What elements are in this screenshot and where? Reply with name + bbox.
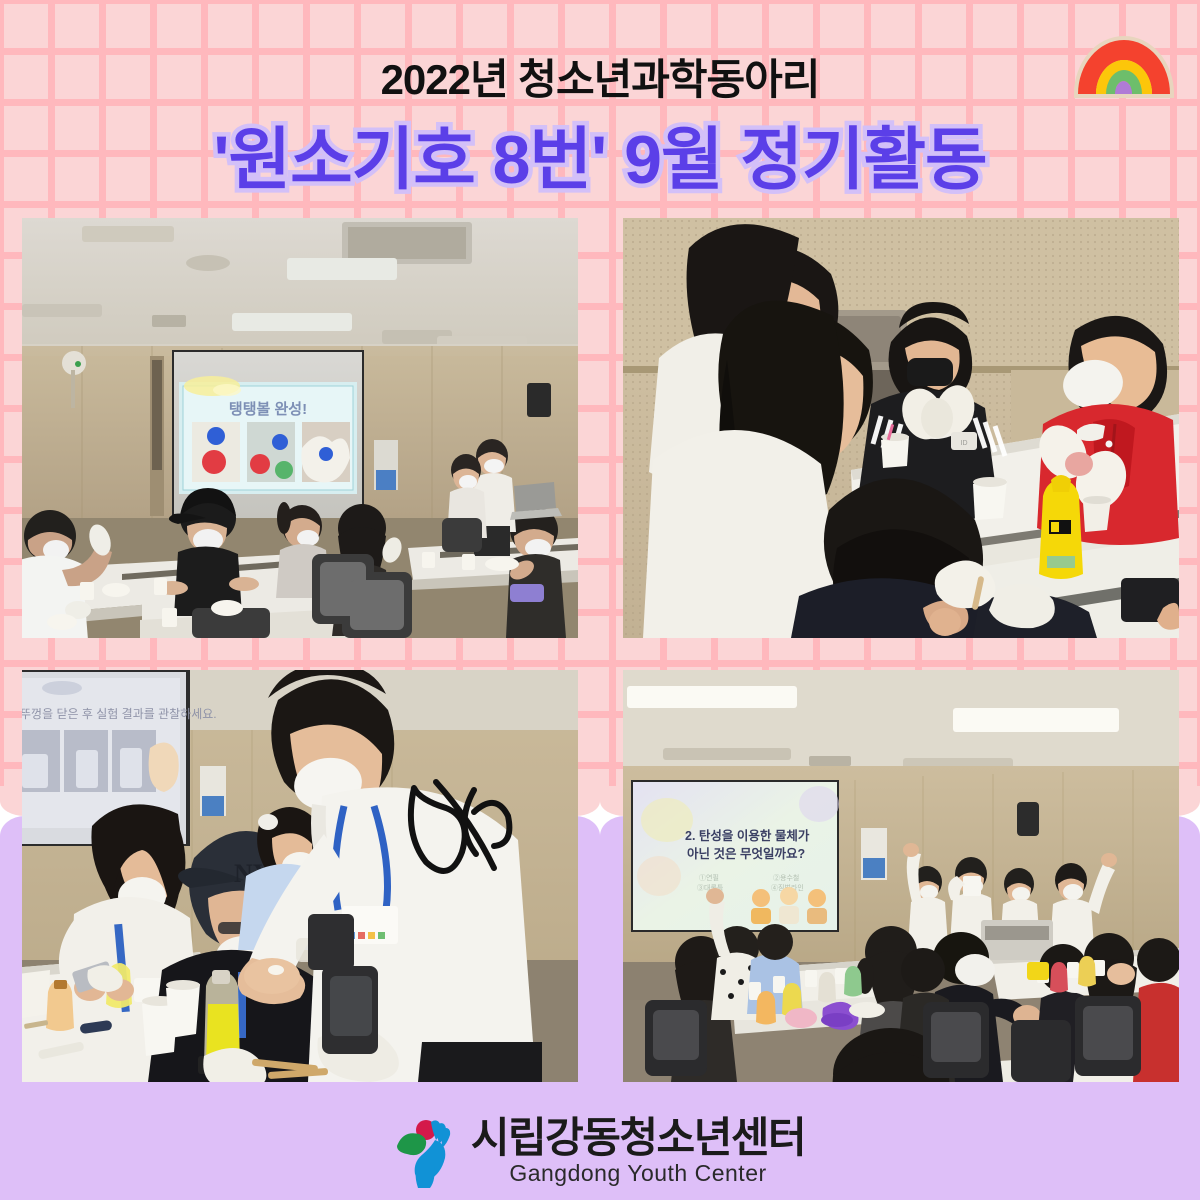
photo3-slide-text: 뚜껑을 닫은 후 실험 결과를 관찰하세요. (22, 707, 217, 721)
photo-card-2: ID (623, 218, 1179, 638)
photo-card-4: 2. 탄성을 이용한 물체가 아닌 것은 무엇일까요? ①연필③대롱틀 ②용수철… (623, 670, 1179, 1082)
photo4-slide-line1: 2. 탄성을 이용한 물체가 (685, 828, 810, 843)
classroom-projector-photo: 탱탱볼 완성! (22, 218, 578, 638)
footer-title-korean: 시립강동청소년센터 (471, 1116, 805, 1160)
svg-text:②용수철: ②용수철 (773, 873, 799, 882)
poster-header: 2022년 청소년과학동아리 '원소기호 8번' 9월 정기활동 (0, 0, 1200, 210)
poster-subtitle: 2022년 청소년과학동아리 (0, 46, 1200, 107)
poster-title: '원소기호 8번' 9월 정기활동 (0, 104, 1200, 203)
gangdong-youth-center-logo-icon (395, 1116, 457, 1188)
footer-title-english: Gangdong Youth Center (509, 1160, 766, 1188)
svg-text:ID: ID (961, 440, 968, 447)
svg-text:①연필: ①연필 (699, 873, 719, 882)
footer-branding: 시립강동청소년센터 Gangdong Youth Center (0, 1104, 1200, 1200)
photo4-slide-line2: 아닌 것은 무엇일까요? (687, 846, 805, 861)
photo-card-1: 탱탱볼 완성! (22, 218, 578, 638)
photo-card-3: 뚜껑을 닫은 후 실험 결과를 관찰하세요. (22, 670, 578, 1082)
instructor-guidance-photo: 뚜껑을 닫은 후 실험 결과를 관찰하세요. (22, 670, 578, 1082)
quiz-hands-up-photo: 2. 탄성을 이용한 물체가 아닌 것은 무엇일까요? ①연필③대롱틀 ②용수철… (623, 670, 1179, 1082)
rainbow-icon (1070, 8, 1178, 104)
photo1-slide-text: 탱탱볼 완성! (229, 400, 307, 418)
table-experiment-photo: ID (623, 218, 1179, 638)
